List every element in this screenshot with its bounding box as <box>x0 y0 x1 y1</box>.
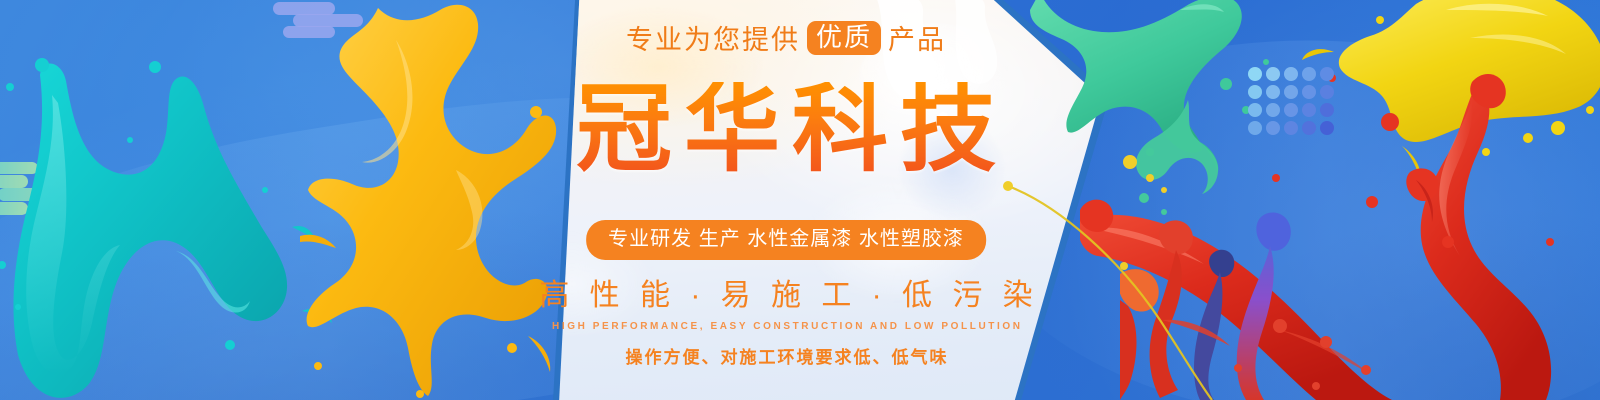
red-drips-lower-right <box>1120 200 1450 400</box>
tagline-after: 产品 <box>888 18 946 57</box>
grid-dot <box>1248 67 1262 81</box>
tagline-before: 专业为您提供 <box>626 18 800 57</box>
grid-dot <box>1302 85 1316 99</box>
banner-content: 专业为您提供 优质 产品 冠华科技 专业研发 生产 水性金属漆 水性塑胶漆 高 … <box>462 0 1110 400</box>
yellow-blob-top-right <box>1270 0 1600 180</box>
sub-note: 操作方便、对施工环境要求低、低气味 <box>462 349 1110 366</box>
dot-grid-decoration <box>1248 67 1334 135</box>
background-wave <box>1050 0 1600 400</box>
slogan-english: HIGH PERFORMANCE, EASY CONSTRUCTION AND … <box>462 322 1110 332</box>
gold-droplet-left-of-panel <box>1116 148 1176 198</box>
grid-dot <box>1284 67 1298 81</box>
grid-dot <box>1266 103 1280 117</box>
grid-dot <box>1302 103 1316 117</box>
grid-dot <box>1302 121 1316 135</box>
grid-dot <box>1266 121 1280 135</box>
grid-dot <box>1320 67 1334 81</box>
mint-splash-left-lower <box>1128 100 1238 220</box>
teal-splash-left <box>0 55 400 400</box>
grid-dot <box>1248 85 1262 99</box>
grid-dot <box>1284 103 1298 117</box>
cloud-purple-decoration <box>265 2 365 38</box>
background-wave <box>1180 210 1600 400</box>
grid-dot <box>1284 85 1298 99</box>
grid-dot <box>1284 121 1298 135</box>
tagline: 专业为您提供 优质 产品 <box>462 18 1110 57</box>
grid-dot <box>1320 121 1334 135</box>
slogan: 高 性 能 · 易 施 工 · 低 污 染 <box>462 281 1110 311</box>
tagline-badge: 优质 <box>807 21 881 55</box>
grid-dot <box>1248 121 1262 135</box>
grid-dot <box>1266 67 1280 81</box>
grid-dot <box>1248 103 1262 117</box>
grid-dot <box>1320 103 1334 117</box>
company-title: 冠华科技 <box>462 82 1110 178</box>
red-splash-right <box>1080 60 1600 400</box>
promo-banner: 专业为您提供 优质 产品 冠华科技 专业研发 生产 水性金属漆 水性塑胶漆 高 … <box>0 0 1600 400</box>
cloud-mint-decoration <box>0 162 102 218</box>
grid-dot <box>1320 85 1334 99</box>
grid-dot <box>1302 67 1316 81</box>
grid-dot <box>1266 85 1280 99</box>
services-pill: 专业研发 生产 水性金属漆 水性塑胶漆 <box>586 220 986 260</box>
